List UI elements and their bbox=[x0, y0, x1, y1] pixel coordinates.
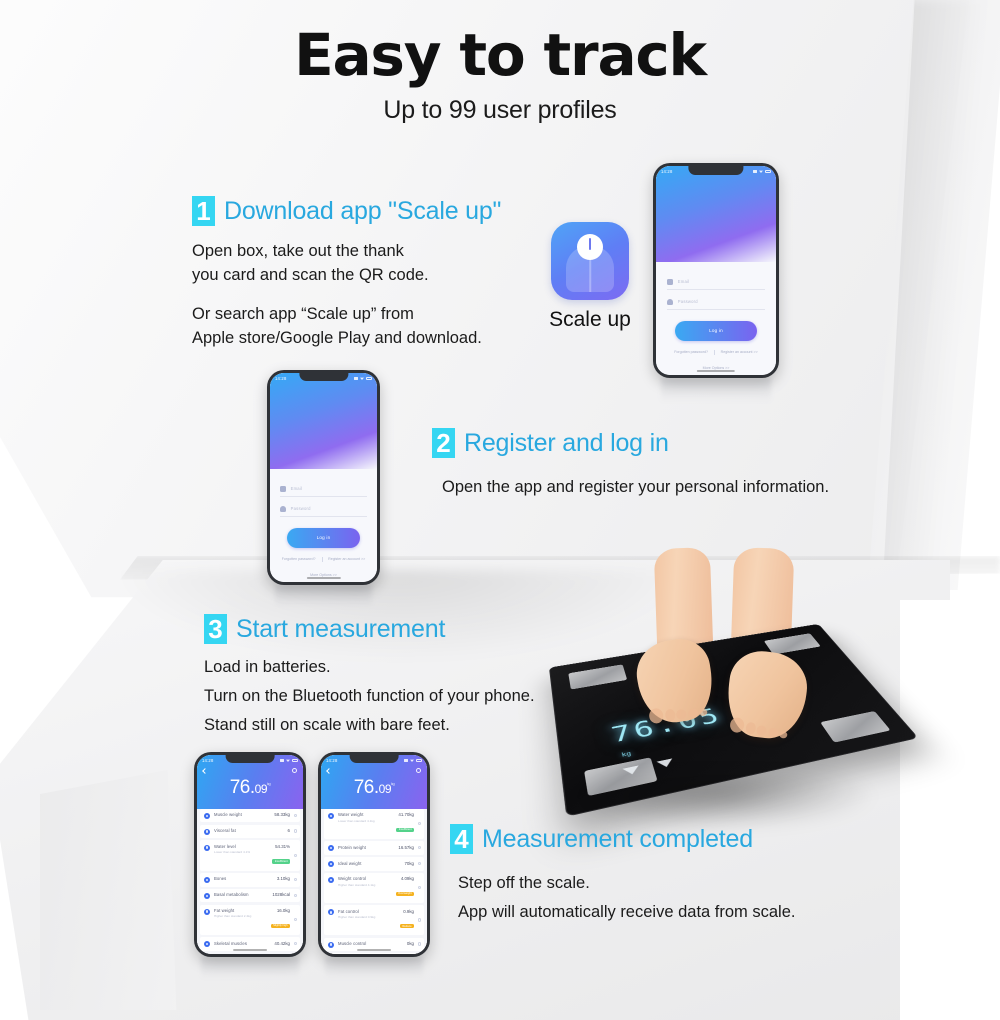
result-row-label: Bones bbox=[214, 876, 277, 881]
info-icon[interactable] bbox=[418, 918, 421, 921]
status-time-3: 14:28 bbox=[202, 758, 213, 763]
result-row-value: 16.57kg bbox=[398, 845, 414, 850]
info-icon[interactable] bbox=[294, 894, 297, 897]
result-row-sublabel: Lower than standard 4.1% bbox=[214, 850, 272, 854]
result-row-label: Weight control bbox=[338, 876, 396, 881]
app-icon-block: Scale up bbox=[536, 222, 644, 332]
result-row-right: 4.09kgOverweight bbox=[396, 876, 420, 899]
mail-icon bbox=[280, 486, 286, 492]
gear-icon[interactable] bbox=[292, 768, 297, 773]
toe bbox=[745, 722, 756, 735]
step-2-line-1: Open the app and register your personal … bbox=[442, 476, 829, 500]
toe bbox=[687, 708, 698, 718]
login-links: Forgotten password? Register an account … bbox=[666, 350, 767, 355]
result-row[interactable]: Ideal weight70kg bbox=[324, 857, 424, 871]
electrode-bottom-right bbox=[820, 711, 890, 743]
scale-led-unit: kg bbox=[621, 750, 632, 758]
forgot-password-link[interactable]: Forgotten password? bbox=[282, 557, 316, 561]
result-row-label: Ideal weight bbox=[338, 861, 404, 866]
result-row[interactable]: Bones3.10kg bbox=[200, 873, 300, 887]
step-2-heading: 2 Register and log in bbox=[432, 428, 829, 458]
signal-icon bbox=[753, 170, 757, 173]
phone-mockup-login-mid: 14:28 Email Password bbox=[267, 370, 380, 585]
phone-notch bbox=[688, 166, 743, 175]
email-field[interactable]: Email bbox=[667, 275, 765, 290]
phone-screen-result-2: 14:28 76.09kg Water weightLower th bbox=[321, 755, 427, 954]
result-row-value: 54.31% bbox=[272, 844, 290, 849]
result-row[interactable]: Basal metabolism1028kcal bbox=[200, 889, 300, 903]
phone-reflection-result-2 bbox=[325, 957, 423, 987]
step-3-line-2: Turn on the Bluetooth function of your p… bbox=[204, 685, 535, 709]
password-field[interactable]: Password bbox=[667, 295, 765, 310]
toe bbox=[676, 709, 687, 720]
result-row-sublabel: Lower than standard 4.1kg bbox=[338, 819, 396, 823]
status-badge: Insufficient bbox=[396, 828, 414, 832]
result-row-main: Basal metabolism bbox=[210, 892, 272, 897]
metric-icon bbox=[328, 942, 334, 948]
result-row-label: Protein weight bbox=[338, 845, 398, 850]
result-row-right: 16.57kg bbox=[398, 845, 420, 850]
battery-icon bbox=[366, 377, 372, 380]
home-indicator bbox=[306, 577, 340, 579]
email-placeholder: Email bbox=[291, 486, 302, 491]
password-placeholder: Password bbox=[291, 506, 311, 511]
phone-reflection-result-1 bbox=[201, 957, 299, 987]
result-row-value: 6 bbox=[288, 828, 290, 833]
wifi-icon bbox=[360, 377, 364, 380]
result-row-label: Water level bbox=[214, 844, 272, 849]
link-divider bbox=[322, 557, 323, 562]
toe bbox=[756, 725, 767, 736]
result-row-sublabel: Higher than standard 4.1kg bbox=[338, 883, 396, 887]
step-4-block: 4 Measurement completed Step off the sca… bbox=[450, 824, 795, 925]
phone-screen-result-1: 14:28 76.09kg Muscle weight58.33kg bbox=[197, 755, 303, 954]
status-icons-4 bbox=[404, 759, 422, 762]
home-indicator bbox=[697, 370, 735, 372]
result-row-main: Water weightLower than standard 4.1kg bbox=[334, 812, 396, 822]
lock-icon bbox=[280, 506, 286, 512]
step-4-body: Step off the scale. App will automatical… bbox=[458, 872, 795, 925]
signal-icon bbox=[404, 759, 408, 762]
info-icon[interactable] bbox=[418, 846, 421, 849]
home-indicator bbox=[233, 949, 267, 951]
result-row[interactable]: Visceral fat6 bbox=[200, 825, 300, 839]
page-title: Easy to track bbox=[0, 26, 1000, 84]
result-row[interactable]: Protein weight16.57kg bbox=[324, 841, 424, 855]
status-time-2: 14:28 bbox=[275, 376, 286, 381]
metric-icon bbox=[328, 877, 334, 883]
step-4-line-2: App will automatically receive data from… bbox=[458, 901, 795, 925]
info-icon[interactable] bbox=[294, 854, 297, 857]
toe bbox=[729, 717, 745, 734]
metric-icon bbox=[328, 845, 334, 851]
signal-icon bbox=[280, 759, 284, 762]
phone-reflection-login-mid bbox=[275, 585, 372, 617]
step-4-number-badge: 4 bbox=[450, 824, 473, 854]
wifi-icon bbox=[410, 759, 414, 762]
step-3-line-3: Stand still on scale with bare feet. bbox=[204, 714, 535, 738]
password-field[interactable]: Password bbox=[280, 502, 368, 517]
toe bbox=[779, 731, 788, 739]
back-chevron-icon[interactable] bbox=[202, 768, 208, 774]
result-row[interactable]: Water levelLower than standard 4.1%54.31… bbox=[200, 840, 300, 870]
metric-icon bbox=[204, 829, 210, 835]
step-1-title: Download app "Scale up" bbox=[224, 197, 501, 226]
forgot-password-link[interactable]: Forgotten password? bbox=[674, 350, 708, 354]
result-row-right: 40.42kg bbox=[274, 941, 296, 946]
page-subtitle: Up to 99 user profiles bbox=[0, 96, 1000, 125]
result-row-label: Basal metabolism bbox=[214, 892, 272, 897]
gear-icon[interactable] bbox=[416, 768, 421, 773]
result-row[interactable]: Water weightLower than standard 4.1kg41.… bbox=[324, 809, 424, 839]
step-3-title: Start measurement bbox=[236, 615, 445, 644]
step-3-number-badge: 3 bbox=[204, 614, 227, 644]
info-icon[interactable] bbox=[294, 829, 297, 832]
triangle-icon-right bbox=[657, 758, 675, 768]
login-screen-2: 14:28 Email Password bbox=[270, 373, 377, 582]
info-icon[interactable] bbox=[294, 942, 297, 945]
result-row-right: 41.70kgInsufficient bbox=[396, 812, 420, 835]
wifi-icon bbox=[759, 170, 763, 173]
metric-icon bbox=[204, 893, 210, 899]
login-gradient-header bbox=[656, 166, 776, 262]
link-divider bbox=[714, 350, 715, 355]
email-field[interactable]: Email bbox=[280, 482, 368, 497]
battery-icon bbox=[765, 170, 771, 173]
metric-icon bbox=[328, 813, 334, 819]
status-badge: Slightly high bbox=[271, 924, 290, 928]
result-row[interactable]: Fat weightHigher than standard 2.4kg16.0… bbox=[200, 905, 300, 935]
body-fat-scale-scene: 76.05 kg bbox=[560, 556, 890, 826]
step-4-title: Measurement completed bbox=[482, 825, 753, 854]
result-row-right: 16.0kgSlightly high bbox=[271, 908, 296, 931]
toe bbox=[699, 708, 708, 716]
result-row-right: 1028kcal bbox=[272, 892, 296, 897]
metric-icon bbox=[328, 861, 334, 867]
result-row-value: 4.09kg bbox=[396, 876, 414, 881]
info-icon[interactable] bbox=[294, 878, 297, 881]
step-3-line-1: Load in batteries. bbox=[204, 656, 535, 680]
battery-icon bbox=[292, 759, 298, 762]
scale-ground-shadow bbox=[578, 774, 878, 830]
result-row-sublabel: Higher than standard 2.4kg bbox=[214, 914, 271, 918]
more-options-link[interactable]: More Options >> bbox=[656, 366, 776, 370]
result-row[interactable]: Weight controlHigher than standard 4.1kg… bbox=[324, 873, 424, 903]
result-row-label: Fat control bbox=[338, 909, 400, 914]
phone-reflection-login-top bbox=[661, 378, 771, 412]
phone-mockup-result-2: 14:28 76.09kg Water weightLower th bbox=[318, 752, 430, 957]
right-white-fill bbox=[900, 600, 1000, 1020]
measured-weight-2: 76.09kg bbox=[321, 778, 427, 797]
phone-mockup-login-top: 14:28 Email Password bbox=[653, 163, 779, 378]
login-gradient-header-2 bbox=[270, 373, 377, 469]
result-row-value: 41.70kg bbox=[396, 812, 414, 817]
result-row-label: Skeletal muscles bbox=[214, 941, 274, 946]
scale-app-icon bbox=[551, 222, 629, 300]
measured-weight-1: 76.09kg bbox=[197, 778, 303, 797]
login-button[interactable]: Log in bbox=[287, 528, 360, 548]
signal-icon bbox=[354, 377, 358, 380]
result-row-label: Visceral fat bbox=[214, 828, 288, 833]
result-screen-1: 14:28 76.09kg Muscle weight58.33kg bbox=[197, 755, 303, 954]
result-row-main: Muscle weight bbox=[210, 812, 274, 817]
step-1-line-1: Open box, take out the thank you card an… bbox=[192, 240, 501, 288]
info-icon[interactable] bbox=[294, 814, 297, 817]
electrode-top-left bbox=[568, 664, 627, 689]
result-row-label: Muscle control bbox=[338, 941, 407, 946]
result-row-label: Water weight bbox=[338, 812, 396, 817]
info-icon[interactable] bbox=[418, 822, 421, 825]
result-row-main: Fat weightHigher than standard 2.4kg bbox=[210, 908, 271, 918]
phone-notch bbox=[299, 373, 348, 381]
result-row-right: 0.9kgReduce bbox=[400, 909, 420, 932]
status-time: 14:28 bbox=[661, 169, 672, 174]
login-form-2: Email Password bbox=[280, 482, 368, 517]
weight-unit: kg bbox=[391, 781, 394, 786]
status-icons-3 bbox=[280, 759, 298, 762]
infographic-stage: Easy to track Up to 99 user profiles 1 D… bbox=[0, 0, 1000, 1000]
result-row-label: Fat weight bbox=[214, 908, 271, 913]
step-2-body: Open the app and register your personal … bbox=[442, 476, 829, 500]
phone-screen-login-mid: 14:28 Email Password bbox=[270, 373, 377, 582]
result-row-sublabel: Higher than standard 0.9kg bbox=[338, 915, 400, 919]
more-options-link[interactable]: More Options >> bbox=[270, 573, 377, 577]
result-row-main: Weight controlHigher than standard 4.1kg bbox=[334, 876, 396, 886]
result-header-2: 14:28 76.09kg bbox=[321, 755, 427, 809]
home-indicator bbox=[357, 949, 391, 951]
step-4-line-1: Step off the scale. bbox=[458, 872, 795, 896]
info-icon[interactable] bbox=[418, 886, 421, 889]
result-row-value: 0kg bbox=[407, 941, 414, 946]
result-row-main: Fat controlHigher than standard 0.9kg bbox=[334, 909, 400, 919]
login-screen: 14:28 Email Password bbox=[656, 166, 776, 375]
register-account-link[interactable]: Register an account >> bbox=[328, 557, 365, 561]
result-row[interactable]: Fat controlHigher than standard 0.9kg0.9… bbox=[324, 905, 424, 935]
status-time-4: 14:28 bbox=[326, 758, 337, 763]
result-row-main: Visceral fat bbox=[210, 828, 288, 833]
weight-decimal: 09 bbox=[379, 782, 391, 796]
result-row-value: 70kg bbox=[404, 861, 414, 866]
result-row[interactable]: Muscle weight58.33kg bbox=[200, 809, 300, 823]
step-1-block: 1 Download app "Scale up" Open box, take… bbox=[192, 196, 501, 351]
step-2-block: 2 Register and log in Open the app and r… bbox=[432, 428, 829, 500]
result-row-right: 54.31%Insufficient bbox=[272, 844, 296, 867]
result-header-1: 14:28 76.09kg bbox=[197, 755, 303, 809]
battery-icon bbox=[416, 759, 422, 762]
lock-icon bbox=[667, 299, 673, 305]
weight-integer: 76. bbox=[354, 777, 379, 798]
metric-icon bbox=[204, 813, 210, 819]
password-placeholder: Password bbox=[678, 299, 698, 304]
result-screen-2: 14:28 76.09kg Water weightLower th bbox=[321, 755, 427, 954]
step-3-body: Load in batteries. Turn on the Bluetooth… bbox=[204, 656, 535, 738]
result-row-main: Protein weight bbox=[334, 845, 398, 850]
info-icon[interactable] bbox=[294, 918, 297, 921]
result-list-2[interactable]: Water weightLower than standard 4.1kg41.… bbox=[321, 809, 427, 954]
result-row-main: Skeletal muscles bbox=[210, 941, 274, 946]
metric-icon bbox=[204, 845, 210, 851]
login-form: Email Password bbox=[667, 275, 765, 310]
metric-icon bbox=[204, 877, 210, 883]
email-placeholder: Email bbox=[678, 279, 689, 284]
metric-icon bbox=[204, 909, 210, 915]
result-row-main: Water levelLower than standard 4.1% bbox=[210, 844, 272, 854]
toe bbox=[648, 707, 664, 724]
weight-integer: 76. bbox=[230, 777, 255, 798]
phone-mockup-result-1: 14:28 76.09kg Muscle weight58.33kg bbox=[194, 752, 306, 957]
result-row-right: 58.33kg bbox=[274, 812, 296, 817]
wifi-icon bbox=[286, 759, 290, 762]
phone-notch bbox=[350, 755, 399, 763]
result-row-value: 58.33kg bbox=[274, 812, 290, 817]
result-row-main: Muscle control bbox=[334, 941, 407, 946]
toe bbox=[664, 709, 676, 722]
step-1-body: Open box, take out the thank you card an… bbox=[192, 240, 501, 351]
step-2-number-badge: 2 bbox=[432, 428, 455, 458]
weight-decimal: 09 bbox=[255, 782, 267, 796]
register-account-link[interactable]: Register an account >> bbox=[721, 350, 758, 354]
scale-needle-icon bbox=[589, 238, 591, 250]
result-row[interactable]: Body age25 bbox=[324, 953, 424, 954]
result-list-1[interactable]: Muscle weight58.33kgVisceral fat6Water l… bbox=[197, 809, 303, 954]
phone-notch bbox=[226, 755, 275, 763]
status-badge: Reduce bbox=[400, 924, 414, 928]
info-icon[interactable] bbox=[418, 862, 421, 865]
result-row-value: 3.10kg bbox=[277, 876, 290, 881]
result-row-value: 16.0kg bbox=[271, 908, 290, 913]
phone-screen-login-top: 14:28 Email Password bbox=[656, 166, 776, 375]
login-links-2: Forgotten password? Register an account … bbox=[279, 557, 369, 562]
status-icons bbox=[753, 170, 771, 173]
login-button[interactable]: Log in bbox=[675, 321, 757, 341]
step-4-heading: 4 Measurement completed bbox=[450, 824, 795, 854]
step-3-heading: 3 Start measurement bbox=[204, 614, 535, 644]
info-icon[interactable] bbox=[418, 942, 421, 945]
mail-icon bbox=[667, 279, 673, 285]
metric-icon bbox=[204, 941, 210, 947]
step-2-title: Register and log in bbox=[464, 429, 669, 458]
app-icon-label: Scale up bbox=[536, 308, 644, 332]
result-row-main: Ideal weight bbox=[334, 861, 404, 866]
status-badge: Insufficient bbox=[272, 859, 290, 863]
result-row-label: Muscle weight bbox=[214, 812, 274, 817]
result-row-main: Bones bbox=[210, 876, 277, 881]
status-badge: Overweight bbox=[396, 892, 414, 896]
result-row-value: 0.9kg bbox=[400, 909, 414, 914]
toe bbox=[767, 727, 778, 737]
step-1-line-2: Or search app “Scale up” from Apple stor… bbox=[192, 303, 501, 351]
step-3-block: 3 Start measurement Load in batteries. T… bbox=[204, 614, 535, 738]
back-chevron-icon[interactable] bbox=[326, 768, 332, 774]
weight-unit: kg bbox=[267, 781, 270, 786]
status-icons-2 bbox=[354, 377, 372, 380]
result-row-value: 40.42kg bbox=[274, 941, 290, 946]
result-row-value: 1028kcal bbox=[272, 892, 290, 897]
step-1-heading: 1 Download app "Scale up" bbox=[192, 196, 501, 226]
step-1-number-badge: 1 bbox=[192, 196, 215, 226]
header-block: Easy to track Up to 99 user profiles bbox=[0, 26, 1000, 125]
